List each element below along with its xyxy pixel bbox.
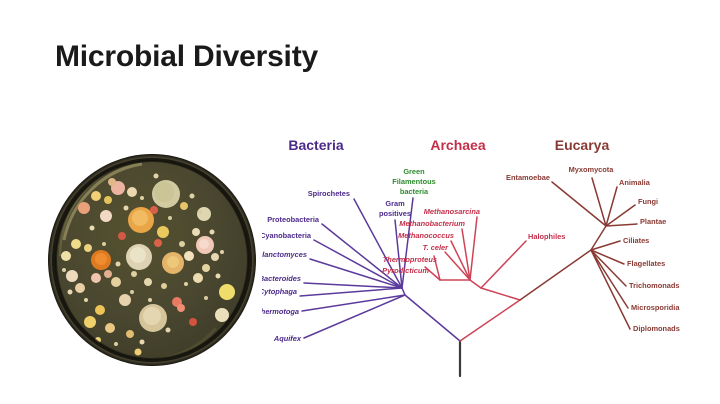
taxon-label-myxomycota: Myxomycota	[569, 165, 615, 174]
taxon-label-methanococcus: Methanococcus	[398, 231, 454, 240]
taxon-label-plantae: Plantae	[640, 217, 666, 226]
taxon-label-methanobacterium: Methanobacterium	[399, 219, 465, 228]
taxon-label-cytophaga: Cytophaga	[262, 287, 297, 296]
taxon-label-bacteroides: Bacteroides	[262, 274, 301, 283]
slide-canvas: Microbial Diversity	[0, 0, 720, 404]
taxon-label-pyrodicticum: Pyrodicticum	[382, 266, 429, 275]
taxon-label-ciliates: Ciliates	[623, 236, 649, 245]
domain-heading-archaea: Archaea	[430, 137, 485, 153]
taxon-label-halophiles: Halophiles	[528, 232, 565, 241]
taxon-label-filamentous: Filamentous	[392, 177, 436, 186]
taxon-label-flagellates: Flagellates	[627, 259, 665, 268]
taxon-label-trichomonads: Trichomonads	[629, 281, 680, 290]
taxon-label-methanosarcina: Methanosarcina	[424, 207, 480, 216]
taxon-label-spirochetes: Spirochetes	[308, 189, 350, 198]
taxon-label-entamoebae: Entamoebae	[506, 173, 550, 182]
taxon-label-gram-positives: positives	[379, 209, 411, 218]
domain-heading-bacteria: Bacteria	[288, 137, 343, 153]
tree-graphic: Bacteria Archaea Eucarya Spirochetes Gre…	[262, 128, 720, 388]
taxon-label-t-celer: T. celer	[423, 243, 449, 252]
taxon-label-fungi: Fungi	[638, 197, 658, 206]
eucarya-branches	[520, 178, 637, 329]
taxon-label-thermotoga: Thermotoga	[262, 307, 299, 316]
taxon-label-proteobacteria: Proteobacteria	[267, 215, 320, 224]
taxon-label-animalia: Animalia	[619, 178, 651, 187]
taxon-label-aquifex: Aquifex	[273, 334, 302, 343]
taxon-label-green-filamentous-bacteria: bacteria	[400, 187, 429, 196]
petri-dish-image	[46, 152, 258, 368]
taxon-label-microsporidia: Microsporidia	[631, 303, 680, 312]
taxon-label-gram: Gram	[385, 199, 405, 208]
taxon-label-cyanobacteria: Cyanobacteria	[262, 231, 312, 240]
taxon-label-green: Green	[403, 167, 425, 176]
page-title: Microbial Diversity	[55, 40, 318, 74]
taxon-label-thermoproteus: Thermoproteus	[383, 255, 437, 264]
domain-heading-eucarya: Eucarya	[555, 137, 610, 153]
petri-dish-graphic	[46, 152, 258, 368]
taxon-label-planctomyces: Planctomyces	[262, 250, 307, 259]
tree-diagram: Bacteria Archaea Eucarya Spirochetes Gre…	[262, 128, 720, 388]
taxon-label-diplomonads: Diplomonads	[633, 324, 680, 333]
